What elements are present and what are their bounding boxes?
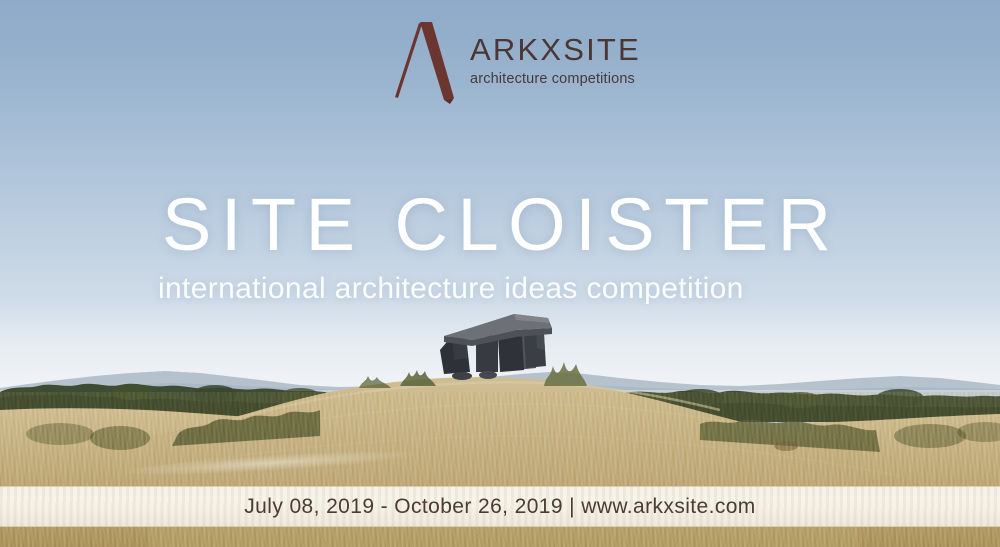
- footer-dates-and-website[interactable]: July 08, 2019 - October 26, 2019 | www.a…: [244, 495, 755, 519]
- competition-poster: ARKXSITE architecture competitions SITE …: [0, 0, 1000, 547]
- brand-text: ARKXSITE architecture competitions: [470, 18, 641, 87]
- brand-name: ARKXSITE: [470, 34, 641, 65]
- brand-logo[interactable]: ARKXSITE architecture competitions: [392, 18, 641, 108]
- page-title: SITE CLOISTER: [162, 188, 841, 262]
- arkxsite-a-mark-icon: [392, 18, 454, 108]
- footer-band: July 08, 2019 - October 26, 2019 | www.a…: [0, 486, 1000, 527]
- page-subtitle: international architecture ideas competi…: [158, 274, 744, 304]
- dolmen-megalith: [418, 306, 568, 386]
- brand-tagline: architecture competitions: [470, 72, 641, 87]
